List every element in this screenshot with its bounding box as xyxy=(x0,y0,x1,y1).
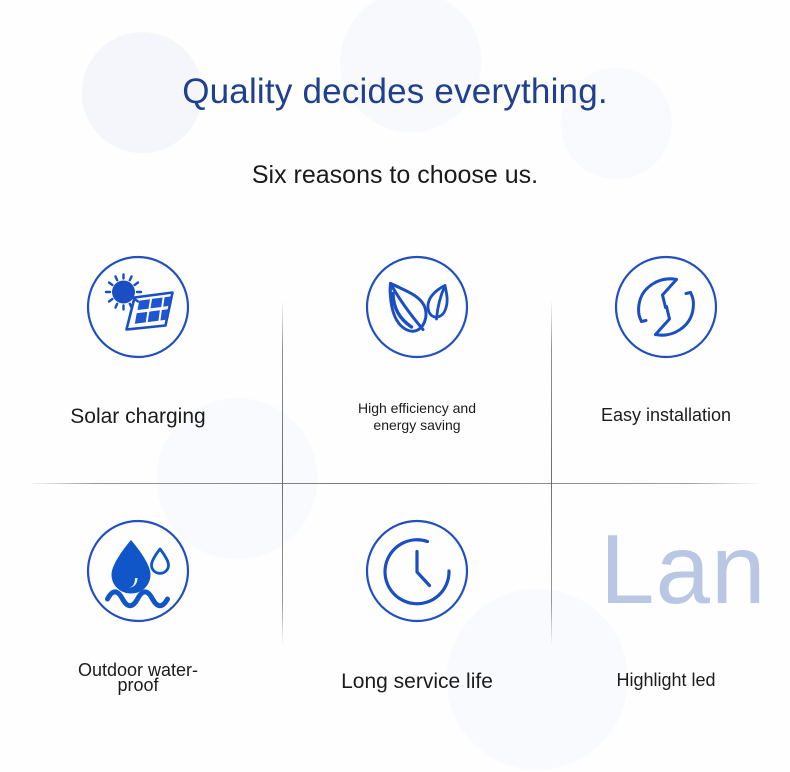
leaf-icon xyxy=(365,255,469,359)
feature-label-easy-installation: Easy installation xyxy=(532,405,790,426)
page-title: Quality decides everything. xyxy=(0,70,790,114)
divider-horizontal xyxy=(28,483,762,484)
wrench-circle-icon xyxy=(614,255,718,359)
feature-label-outdoor-waterproof-line2: proof xyxy=(4,678,272,693)
feature-label-highlight-led: Highlight led xyxy=(532,670,790,691)
highlight-led-icon-placeholder xyxy=(614,519,718,623)
clock-icon xyxy=(365,519,469,623)
feature-cell-high-efficiency: High efficiency and energy saving xyxy=(283,255,551,434)
feature-cell-highlight-led: Highlight led xyxy=(532,519,790,691)
feature-label-long-service-life: Long service life xyxy=(283,669,551,694)
feature-cell-long-service-life: Long service life xyxy=(283,519,551,694)
feature-cell-easy-installation: Easy installation xyxy=(532,255,790,426)
feature-label-solar-charging: Solar charging xyxy=(4,404,272,429)
solar-panel-icon xyxy=(86,255,190,359)
feature-cell-outdoor-waterproof: Outdoor water- proof xyxy=(4,519,272,693)
water-drop-icon xyxy=(86,519,190,623)
promo-page: Quality decides everything. Six reasons … xyxy=(0,0,790,772)
feature-label-high-efficiency-line2: energy saving xyxy=(283,417,551,434)
page-subtitle: Six reasons to choose us. xyxy=(0,159,790,191)
feature-label-high-efficiency-line1: High efficiency and xyxy=(283,400,551,417)
feature-cell-solar-charging: Solar charging xyxy=(4,255,272,429)
